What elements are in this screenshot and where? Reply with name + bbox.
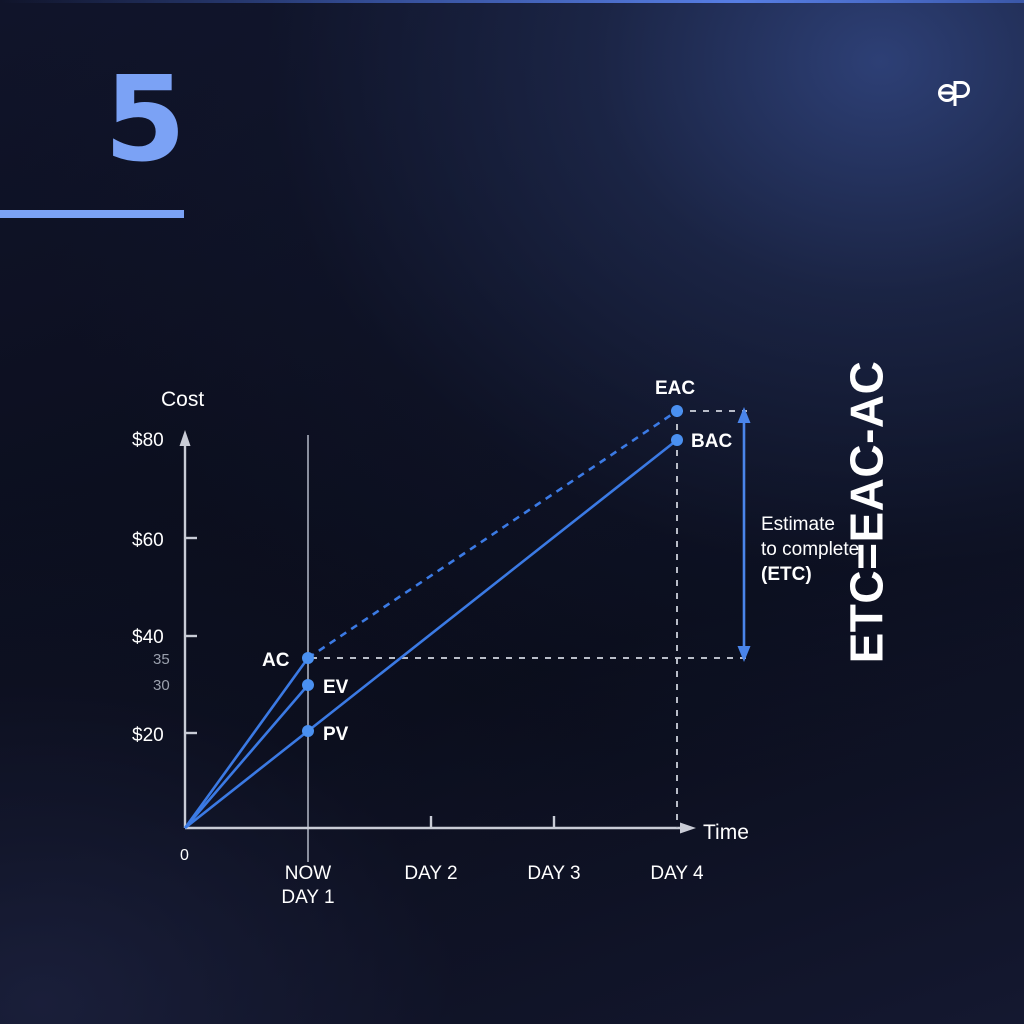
series-line-ac — [185, 658, 308, 828]
etc-annotation-line1: Estimate — [761, 514, 835, 535]
etc-annotation-line2: to complete — [761, 539, 859, 560]
etc-annotation-line3: (ETC) — [761, 564, 812, 585]
slide-canvas: 5 ETC=EAC-AC — [0, 0, 1024, 1024]
y-tick-label-80: $80 — [132, 430, 164, 451]
y-minor-label-35: 35 — [153, 651, 170, 668]
etc-arrow-head-bottom — [738, 646, 751, 662]
x-tick-label-now: NOW — [285, 863, 332, 884]
x-tick-label-day4: DAY 4 — [650, 863, 704, 884]
series-line-ev — [185, 685, 308, 828]
series-label-pv: PV — [323, 724, 349, 745]
x-axis-arrowhead — [680, 823, 696, 834]
x-tick-label-day2: DAY 2 — [404, 863, 457, 884]
series-line-eac-forecast — [308, 411, 677, 658]
etc-arrow-head-top — [738, 407, 751, 423]
series-line-pv — [185, 440, 677, 828]
y-tick-label-40: $40 — [132, 627, 164, 648]
data-point-ac — [302, 652, 314, 664]
y-minor-label-30: 30 — [153, 677, 170, 694]
series-label-ev: EV — [323, 677, 349, 698]
series-label-bac: BAC — [691, 431, 732, 452]
y-tick-label-60: $60 — [132, 530, 164, 551]
data-point-ev — [302, 679, 314, 691]
data-point-pv — [302, 725, 314, 737]
y-tick-label-20: $20 — [132, 725, 164, 746]
series-label-ac: AC — [262, 650, 290, 671]
data-point-eac — [671, 405, 683, 417]
series-label-eac: EAC — [655, 378, 695, 399]
y-axis-arrowhead — [180, 430, 191, 446]
x-tick-label-day1: DAY 1 — [281, 887, 334, 908]
data-point-bac — [671, 434, 683, 446]
earned-value-chart: Cost $80 $60 $40 35 30 $20 0 NOW DAY 1 D… — [0, 0, 1024, 1024]
origin-label: 0 — [180, 847, 189, 864]
x-tick-label-day3: DAY 3 — [527, 863, 580, 884]
y-axis-title: Cost — [161, 388, 204, 411]
x-axis-title: Time — [703, 821, 749, 844]
